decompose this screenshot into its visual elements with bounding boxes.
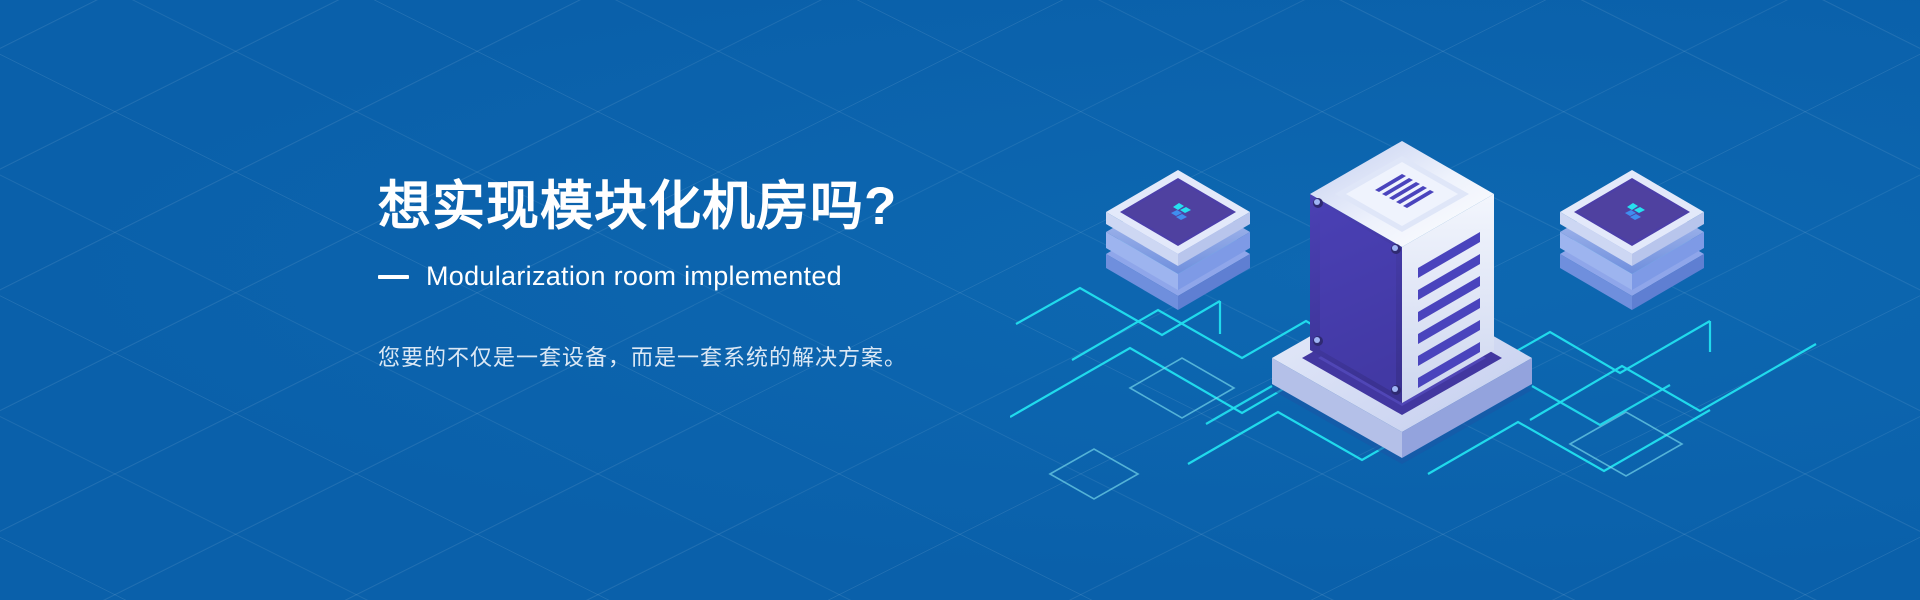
dash-rule-icon <box>378 275 409 279</box>
hero-copy-block: 想实现模块化机房吗? Modularization room implement… <box>378 178 1138 394</box>
subtitle: Modularization room implemented <box>426 261 842 292</box>
subtitle-row: Modularization room implemented <box>378 261 1138 292</box>
chip-module-right <box>1560 170 1704 310</box>
hero-banner: 想实现模块化机房吗? Modularization room implement… <box>0 0 1920 600</box>
page-title: 想实现模块化机房吗? <box>378 178 1138 235</box>
description-text: 您要的不仅是一套设备，而是一套系统的解决方案。 <box>378 340 1138 372</box>
